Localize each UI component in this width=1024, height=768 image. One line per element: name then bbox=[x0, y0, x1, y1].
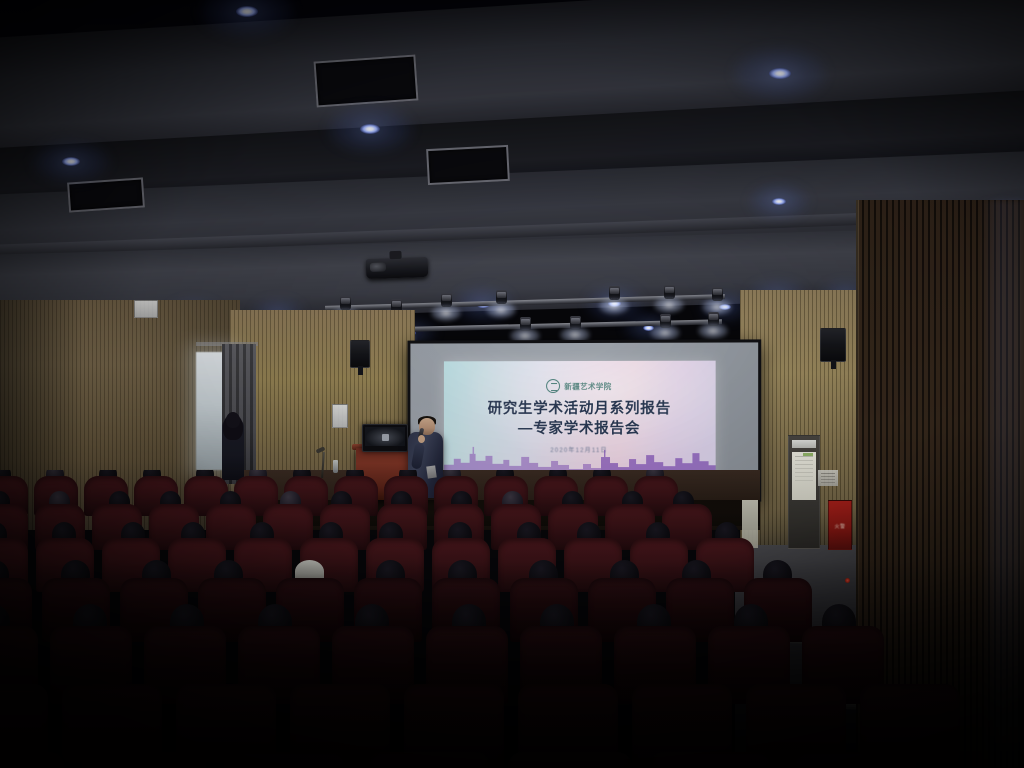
standing-attendee-head bbox=[226, 412, 240, 428]
recessed-downlight-icon bbox=[769, 68, 791, 79]
recessed-downlight-icon bbox=[772, 198, 786, 205]
notice-board-stamp bbox=[803, 453, 813, 456]
spotlight-beam bbox=[431, 305, 461, 321]
presenter-hand bbox=[418, 435, 425, 443]
left-wall-notice-plate bbox=[134, 300, 158, 318]
spotlight-beam bbox=[599, 298, 629, 314]
auditorium-photo: 新疆艺术学院 研究生学术活动月系列报告 —专家学术报告会 2020年12月11日 bbox=[0, 0, 1024, 768]
slide-title: 研究生学术活动月系列报告 bbox=[444, 401, 716, 418]
ac-vent-icon bbox=[426, 145, 510, 185]
monitor-screen bbox=[365, 427, 405, 446]
spotlight-beam bbox=[486, 302, 516, 318]
spotlight-beam bbox=[698, 323, 728, 339]
monitor-reflection bbox=[382, 434, 389, 441]
recessed-downlight-icon bbox=[236, 6, 258, 17]
notice-board-header bbox=[792, 440, 816, 448]
ac-vent-icon bbox=[67, 177, 145, 212]
front-wall-switch-plate bbox=[332, 404, 348, 428]
university-logo-icon bbox=[546, 379, 560, 393]
slide-logo: 新疆艺术学院 bbox=[444, 379, 716, 393]
spotlight-beam bbox=[654, 297, 684, 313]
audience-seating bbox=[0, 470, 1024, 768]
slide-subtitle: —专家学术报告会 bbox=[444, 421, 716, 438]
presentation-slide: 新疆艺术学院 研究生学术活动月系列报告 —专家学术报告会 2020年12月11日 bbox=[444, 361, 716, 478]
ac-vent-icon bbox=[314, 54, 419, 107]
spotlight-beam bbox=[650, 325, 680, 341]
ceiling-projector-icon bbox=[366, 257, 429, 279]
recessed-downlight-icon bbox=[360, 124, 380, 134]
wall-loudspeaker-left bbox=[350, 340, 370, 368]
wall-loudspeaker-right bbox=[820, 328, 846, 362]
confidence-monitor[interactable] bbox=[362, 424, 408, 452]
slide-logo-text: 新疆艺术学院 bbox=[564, 380, 611, 391]
recessed-downlight-icon bbox=[62, 157, 80, 166]
